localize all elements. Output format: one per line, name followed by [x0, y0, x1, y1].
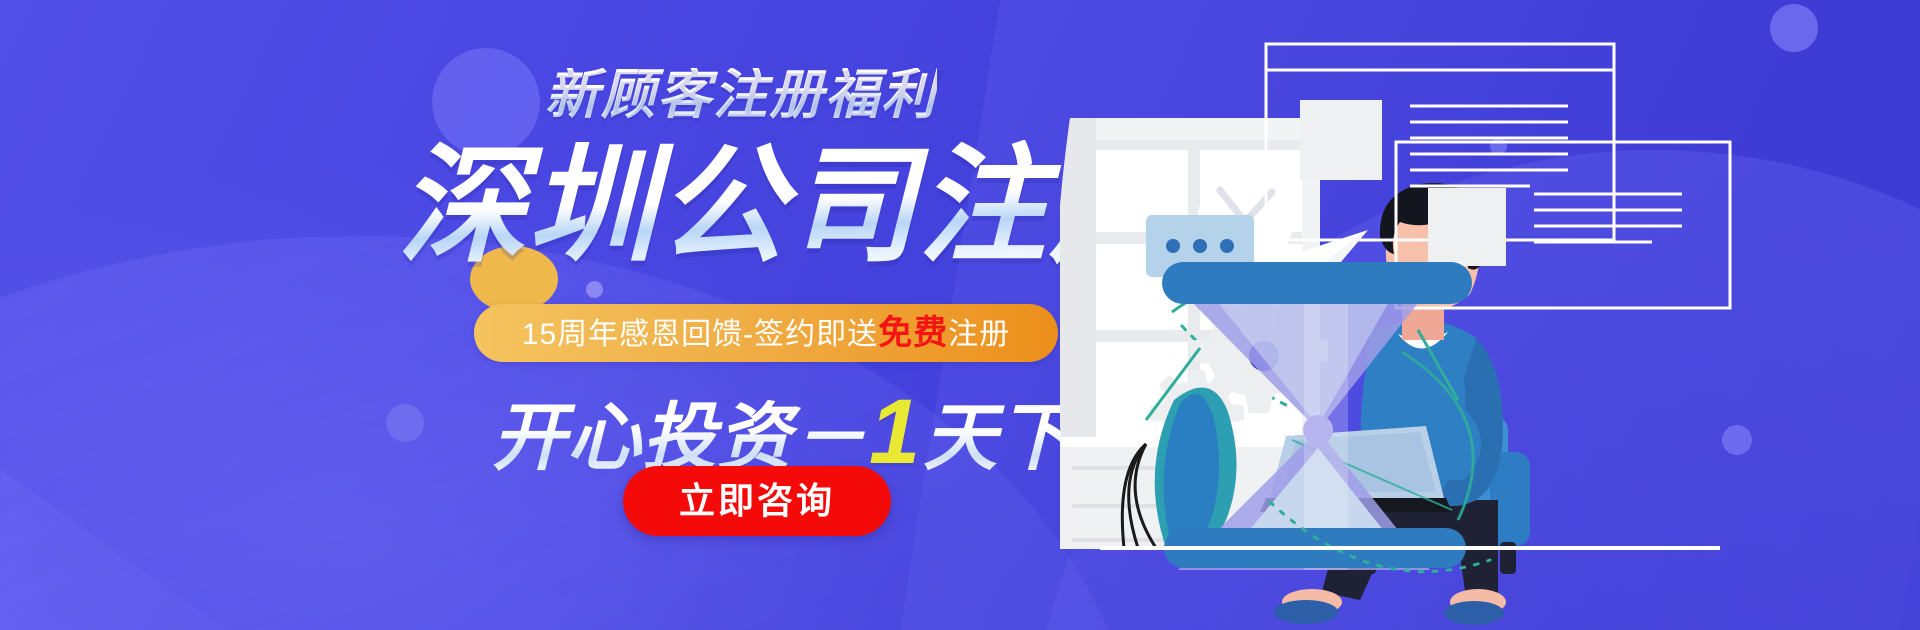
- promo-highlight: 免费: [878, 314, 948, 352]
- promo-badge: 15周年感恩回馈-签约即送免费注册: [474, 304, 1058, 362]
- eyebrow-text: 新顾客注册福利: [545, 68, 937, 122]
- consult-now-button[interactable]: 立即咨询: [623, 466, 891, 536]
- hero-illustration: [1060, 0, 1920, 630]
- tagline-number: 1: [867, 381, 923, 483]
- consult-now-label: 立即咨询: [679, 483, 835, 519]
- promo-suffix: 注册: [948, 318, 1010, 351]
- promo-badge-text: 15周年感恩回馈-签约即送免费注册: [522, 316, 1010, 350]
- tagline: 开心投资－1天下证: [492, 386, 1148, 478]
- promo-banner: 新顾客注册福利 深圳公司注册 15周年感恩回馈-签约即送免费注册 开心投资－1天…: [0, 0, 1920, 630]
- copy-block: 新顾客注册福利 深圳公司注册 15周年感恩回馈-签约即送免费注册 开心投资－1天…: [0, 0, 1160, 630]
- promo-prefix: 15周年感恩回馈-签约即送: [522, 318, 878, 351]
